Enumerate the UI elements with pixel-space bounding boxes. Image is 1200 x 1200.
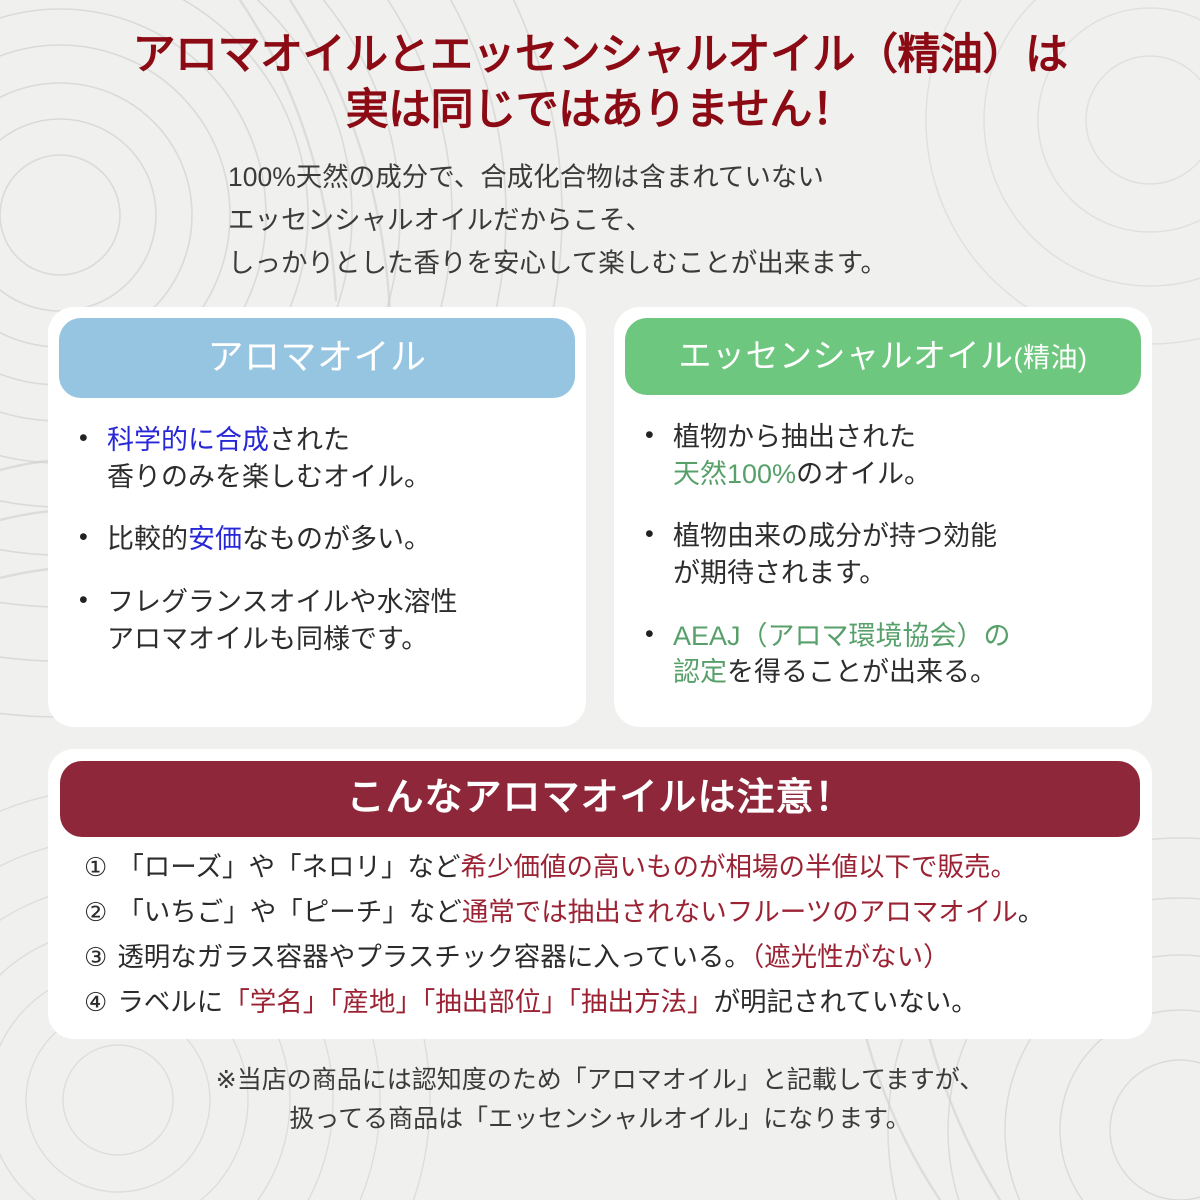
bullet-highlight: 科学的に合成 (107, 425, 269, 455)
card-essential-oil-header-paren: (精油) (1013, 343, 1087, 373)
card-aroma-oil-bullets: 科学的に合成された 香りのみを楽しむオイル。 比較的安価なものが多い。 フレグラ… (59, 422, 575, 658)
list-item: 比較的安価なものが多い。 (77, 521, 567, 558)
list-item: 科学的に合成された 香りのみを楽しむオイル。 (77, 422, 567, 495)
footnote-line-1: ※当店の商品には認知度のため「アロマオイル」と記載してますが、 (0, 1061, 1200, 1100)
caution-list: ① 「ローズ」や「ネロリ」など希少価値の高いものが相場の半値以下で販売。 ② 「… (60, 853, 1140, 1018)
list-item: ③ 透明なガラス容器やプラスチック容器に入っている。（遮光性がない） (84, 943, 1122, 972)
list-item: ④ ラベルに「学名」「産地」「抽出部位」「抽出方法」が明記されていない。 (84, 988, 1122, 1017)
caution-text-highlight: 通常では抽出されないフルーツのアロマオイル (462, 897, 1018, 927)
card-aroma-oil: アロマオイル 科学的に合成された 香りのみを楽しむオイル。 比較的安価なものが多… (48, 307, 586, 727)
caution-panel: こんなアロマオイルは注意！ ① 「ローズ」や「ネロリ」など希少価値の高いものが相… (48, 749, 1152, 1040)
list-item-text: 「ローズ」や「ネロリ」など希少価値の高いものが相場の半値以下で販売。 (117, 853, 1017, 882)
list-item-number: ④ (84, 988, 107, 1017)
bullet-text-line2: アロマオイルも同様です。 (107, 624, 428, 654)
list-item: フレグランスオイルや水溶性 アロマオイルも同様です。 (77, 584, 567, 657)
page-title-line-2: 実は同じではありません！ (0, 83, 1200, 138)
card-essential-oil-bullets: 植物から抽出された 天然100%のオイル。 植物由来の成分が持つ効能 が期待され… (625, 419, 1141, 691)
caution-text-plain: 「いちご」や「ピーチ」など (117, 897, 462, 927)
list-item-number: ① (84, 853, 107, 882)
bullet-highlight: 天然100% (673, 459, 796, 489)
caution-text-tail: が明記されていない。 (714, 987, 978, 1017)
comparison-cards: アロマオイル 科学的に合成された 香りのみを楽しむオイル。 比較的安価なものが多… (48, 307, 1152, 727)
card-essential-oil-header-main: エッセンシャルオイル (678, 337, 1013, 374)
bullet-text: された (269, 425, 350, 455)
list-item-text: 透明なガラス容器やプラスチック容器に入っている。（遮光性がない） (117, 943, 949, 972)
bullet-highlight: AEAJ（アロマ環境協会）の (673, 621, 1011, 651)
list-item: 植物由来の成分が持つ効能 が期待されます。 (643, 518, 1133, 591)
caution-panel-header: こんなアロマオイルは注意！ (60, 761, 1140, 837)
page-title-line-1: アロマオイルとエッセンシャルオイル（精油）は (0, 28, 1200, 83)
caution-text-highlight: 「学名」「産地」「抽出部位」「抽出方法」 (223, 987, 713, 1017)
bullet-text-tail: のオイル。 (796, 459, 931, 489)
bullet-highlight: 安価 (188, 524, 242, 554)
caution-text-highlight: 希少価値の高いものが相場の半値以下で販売。 (461, 852, 1018, 882)
caution-text-plain: ラベルに (117, 987, 223, 1017)
caution-text-highlight: （遮光性がない） (751, 942, 950, 972)
list-item-number: ② (84, 898, 107, 927)
infographic-page: アロマオイルとエッセンシャルオイル（精油）は 実は同じではありません！ 100%… (0, 0, 1200, 1200)
bullet-text-line2: 香りのみを楽しむオイル。 (107, 462, 431, 492)
footnote: ※当店の商品には認知度のため「アロマオイル」と記載してますが、 扱ってる商品は「… (0, 1061, 1200, 1139)
bullet-text: フレグランスオイルや水溶性 (107, 587, 457, 617)
lead-paragraph: 100%天然の成分で、合成化合物は含まれていない エッセンシャルオイルだからこそ… (0, 156, 1200, 285)
bullet-text: 植物から抽出された (673, 422, 916, 452)
list-item-number: ③ (84, 943, 107, 972)
list-item-text: ラベルに「学名」「産地」「抽出部位」「抽出方法」が明記されていない。 (117, 988, 977, 1017)
footnote-line-2: 扱ってる商品は「エッセンシャルオイル」になります。 (0, 1100, 1200, 1139)
caution-text-tail: 。 (1018, 897, 1045, 927)
card-essential-oil-header: エッセンシャルオイル(精油) (625, 318, 1141, 395)
card-aroma-oil-header: アロマオイル (59, 318, 575, 398)
list-item: ① 「ローズ」や「ネロリ」など希少価値の高いものが相場の半値以下で販売。 (84, 853, 1122, 882)
lead-line-2: エッセンシャルオイルだからこそ、 (228, 199, 1200, 242)
bullet-text-tail: を得ることが出来る。 (727, 657, 997, 687)
caution-text-plain: 透明なガラス容器やプラスチック容器に入っている。 (117, 942, 751, 972)
bullet-highlight-line2: 認定 (673, 657, 727, 687)
list-item: ② 「いちご」や「ピーチ」など通常では抽出されないフルーツのアロマオイル。 (84, 898, 1122, 927)
bullet-text-line2: が期待されます。 (673, 558, 886, 588)
caution-text-plain: 「ローズ」や「ネロリ」など (117, 852, 460, 882)
card-essential-oil: エッセンシャルオイル(精油) 植物から抽出された 天然100%のオイル。 植物由… (614, 307, 1152, 727)
page-title: アロマオイルとエッセンシャルオイル（精油）は 実は同じではありません！ (0, 0, 1200, 138)
list-item-text: 「いちご」や「ピーチ」など通常では抽出されないフルーツのアロマオイル。 (117, 898, 1044, 927)
list-item: 植物から抽出された 天然100%のオイル。 (643, 419, 1133, 492)
list-item: AEAJ（アロマ環境協会）の 認定を得ることが出来る。 (643, 618, 1133, 691)
bullet-text: 植物由来の成分が持つ効能 (673, 521, 997, 551)
bullet-text: 比較的 (107, 524, 188, 554)
bullet-text-tail: なものが多い。 (242, 524, 431, 554)
lead-line-1: 100%天然の成分で、合成化合物は含まれていない (228, 156, 1200, 199)
lead-line-3: しっかりとした香りを安心して楽しむことが出来ます。 (228, 242, 1200, 285)
